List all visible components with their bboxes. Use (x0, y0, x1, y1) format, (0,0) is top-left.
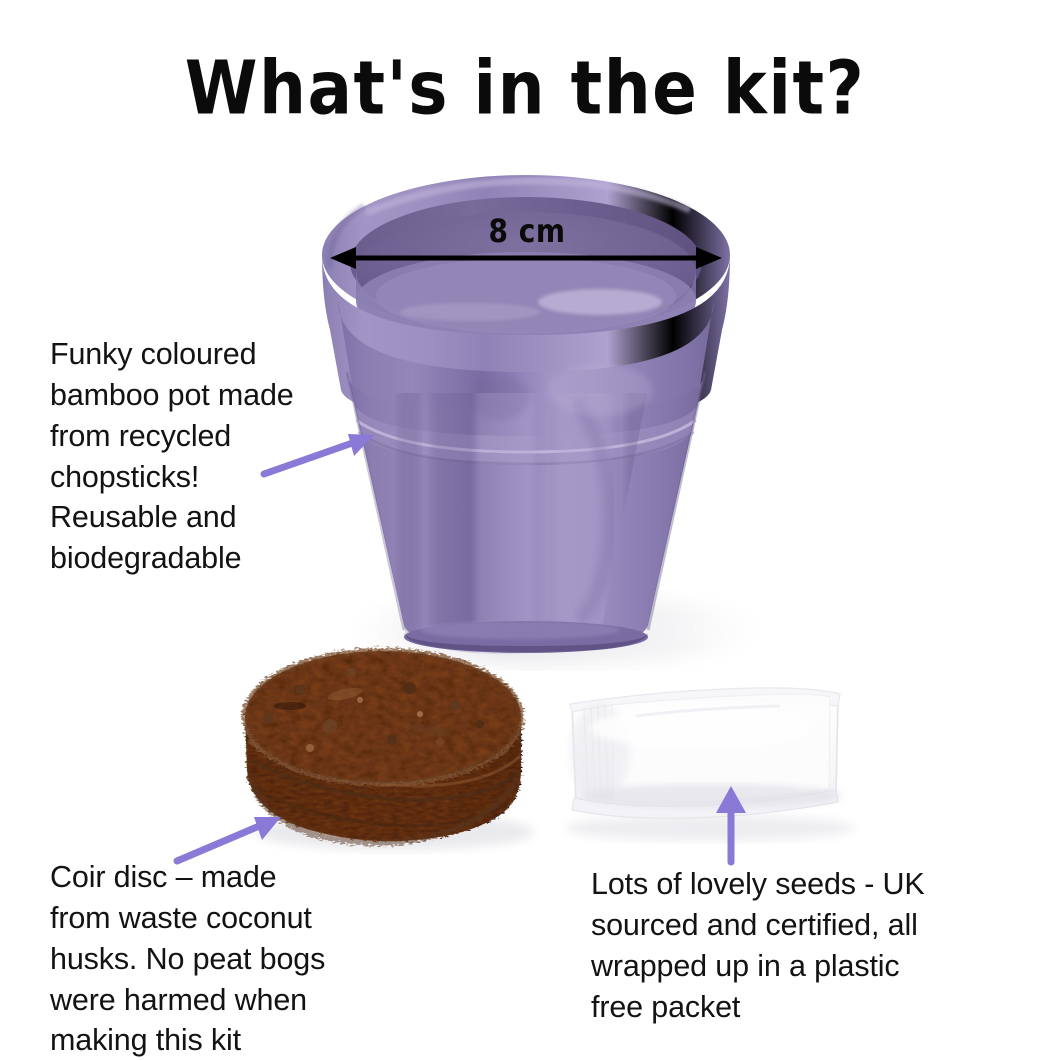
pot-inner-gloss-2 (400, 303, 540, 321)
arrow-to-coir (177, 817, 281, 861)
kit-overview-canvas: What's in the kit? 8 cm Funky coloured b… (0, 0, 1050, 1050)
annotation-pot: Funky coloured bamboo pot made from recy… (50, 334, 350, 579)
annotation-seeds: Lots of lovely seeds - UK sourced and ce… (591, 864, 963, 1027)
pot-inner-gloss (538, 289, 662, 315)
dimension-label: 8 cm (462, 212, 592, 250)
seed-packet[interactable] (570, 688, 842, 818)
pot-base-hi (420, 621, 620, 639)
packet-highlight (590, 708, 810, 748)
annotation-coir: Coir disc – made from waste coconut husk… (50, 857, 380, 1061)
packet-shade-bottom (582, 784, 842, 808)
page-title: What's in the kit? (0, 52, 1050, 126)
coir-disc[interactable] (243, 649, 523, 843)
packet-ground-shadow (565, 815, 855, 841)
